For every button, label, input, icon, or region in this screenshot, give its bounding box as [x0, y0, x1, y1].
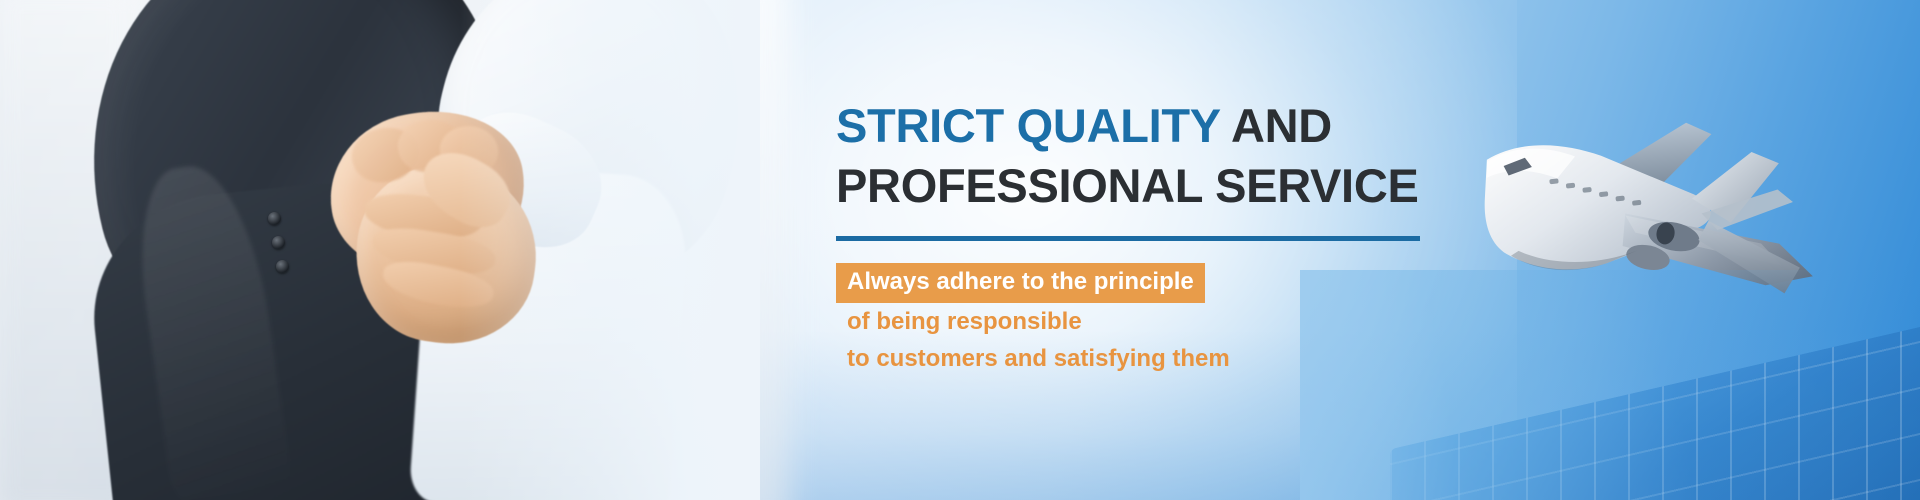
photo-blur-streak-right — [560, 0, 790, 500]
banner-content: STRICT QUALITY AND PROFESSIONAL SERVICE … — [836, 96, 1476, 377]
white-shirt-cuff — [434, 95, 620, 266]
suit-button — [272, 236, 285, 249]
airplane-icon — [1447, 84, 1892, 391]
title-divider — [836, 236, 1420, 241]
subheading-line-3: to customers and satisfying them — [836, 340, 1476, 377]
headline-rest-text: AND — [1220, 99, 1332, 152]
subheading-highlight-row: Always adhere to the principle — [836, 263, 1476, 303]
subheading-line-2: of being responsible — [836, 303, 1476, 340]
subheading-highlight: Always adhere to the principle — [836, 263, 1205, 303]
hero-banner: STRICT QUALITY AND PROFESSIONAL SERVICE … — [0, 0, 1920, 500]
subheading-block: Always adhere to the principle of being … — [836, 263, 1476, 377]
suit-button — [276, 260, 289, 273]
suit-button — [268, 212, 281, 225]
headline-accent-text: STRICT QUALITY — [836, 99, 1220, 152]
headline-line-2: PROFESSIONAL SERVICE — [836, 156, 1476, 216]
page-title: STRICT QUALITY AND PROFESSIONAL SERVICE — [836, 96, 1476, 216]
handshake-photo — [0, 0, 760, 500]
white-shirt-sleeve — [406, 0, 775, 312]
